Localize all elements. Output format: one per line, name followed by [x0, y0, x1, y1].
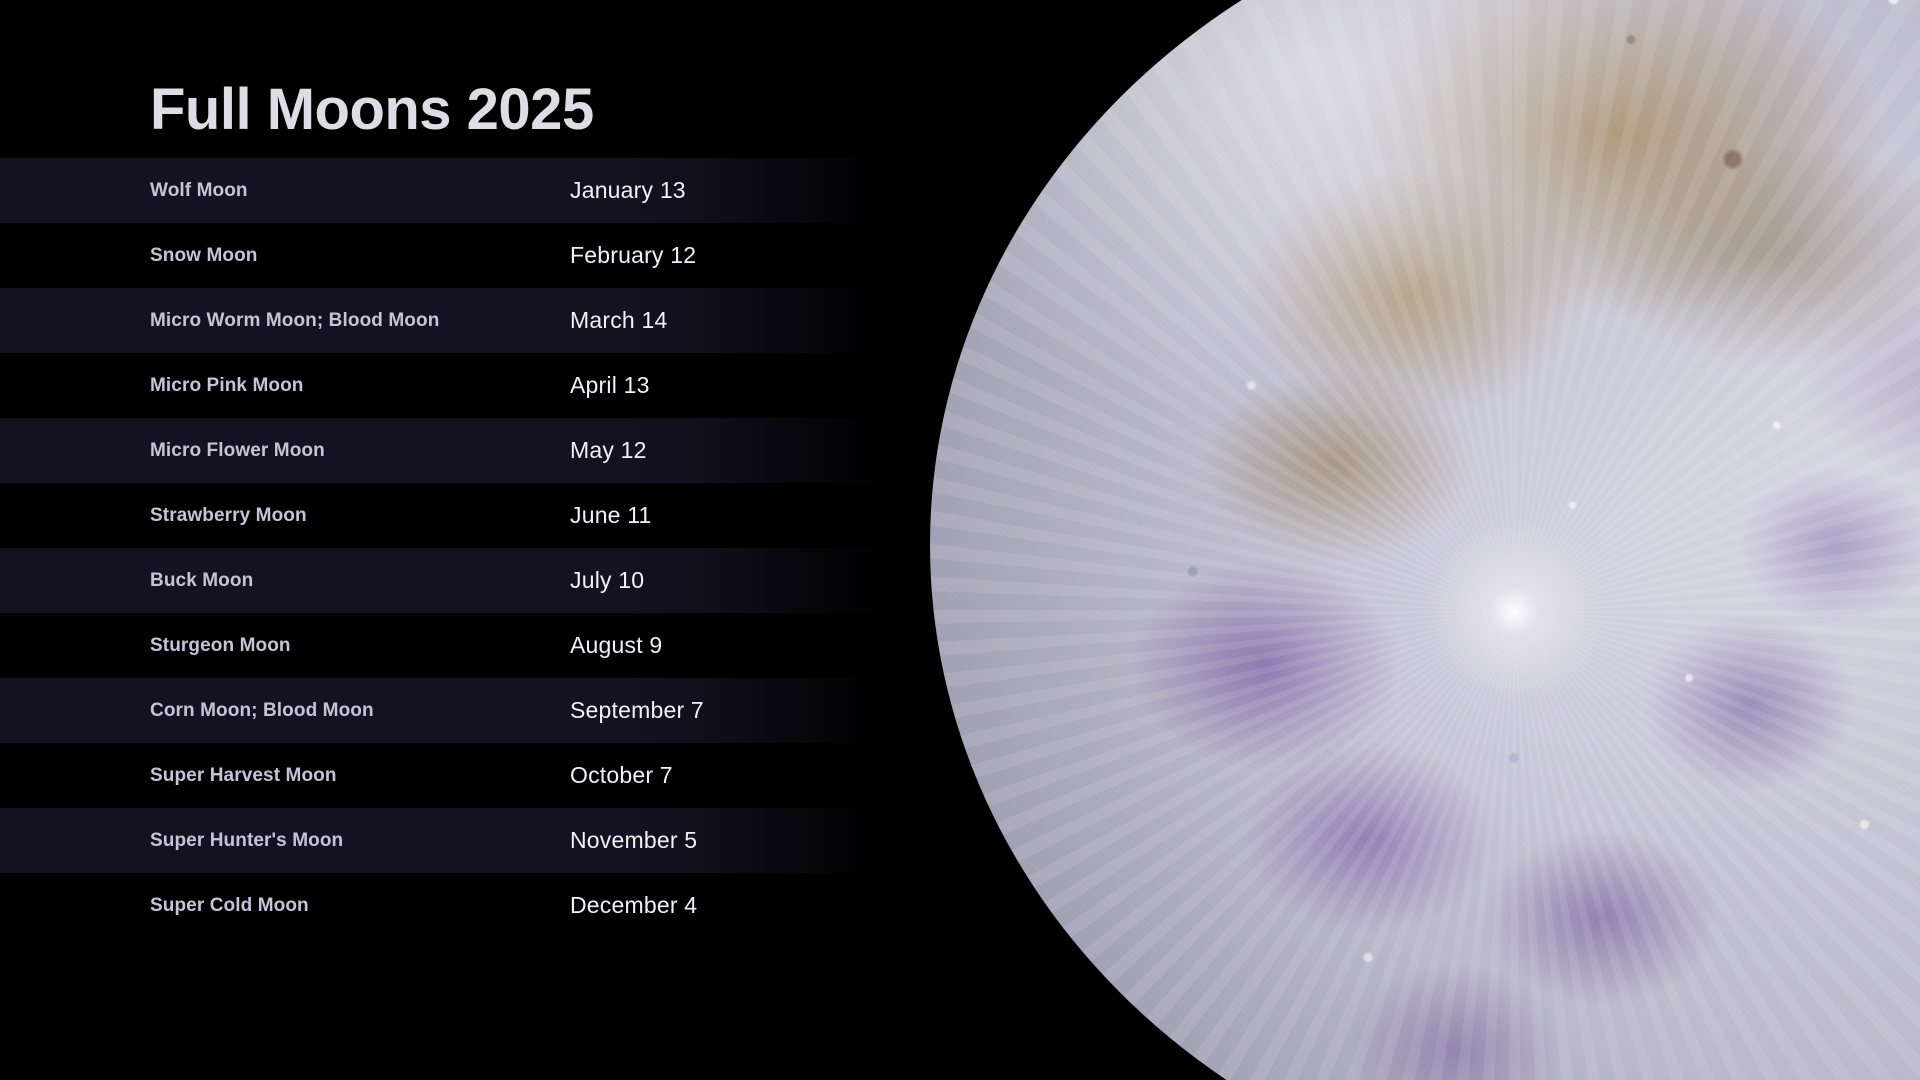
moon-name-cell: Buck Moon [150, 570, 570, 592]
moon-date-cell: May 12 [570, 437, 647, 464]
moon-name-cell: Micro Flower Moon [150, 440, 570, 462]
moon-date-cell: October 7 [570, 762, 673, 789]
table-row: Super Harvest MoonOctober 7 [0, 743, 940, 808]
table-row: Strawberry MoonJune 11 [0, 483, 940, 548]
moon-limb-shadow [930, 0, 1920, 1080]
moon-date-cell: December 4 [570, 892, 697, 919]
moon-name-cell: Snow Moon [150, 245, 570, 267]
moon-name-cell: Sturgeon Moon [150, 635, 570, 657]
moon-date-cell: February 12 [570, 242, 696, 269]
table-row: Sturgeon MoonAugust 9 [0, 613, 940, 678]
page-title: Full Moons 2025 [150, 76, 594, 143]
moon-name-cell: Super Cold Moon [150, 895, 570, 917]
moon-name-cell: Super Harvest Moon [150, 765, 570, 787]
table-row: Buck MoonJuly 10 [0, 548, 940, 613]
content-panel: Full Moons 2025 Wolf MoonJanuary 13Snow … [0, 0, 940, 1080]
table-row: Wolf MoonJanuary 13 [0, 158, 940, 223]
table-row: Micro Flower MoonMay 12 [0, 418, 940, 483]
moon-date-cell: August 9 [570, 632, 662, 659]
table-row: Micro Worm Moon; Blood MoonMarch 14 [0, 288, 940, 353]
table-row: Micro Pink MoonApril 13 [0, 353, 940, 418]
moon-surface-texture-icon [930, 0, 1920, 1080]
table-row: Snow MoonFebruary 12 [0, 223, 940, 288]
moon-date-cell: July 10 [570, 567, 644, 594]
moon-name-cell: Wolf Moon [150, 180, 570, 202]
moon-date-cell: January 13 [570, 177, 686, 204]
moon-name-cell: Strawberry Moon [150, 505, 570, 527]
moon-name-cell: Micro Pink Moon [150, 375, 570, 397]
moon-date-cell: November 5 [570, 827, 697, 854]
moon-date-cell: April 13 [570, 372, 650, 399]
poster-canvas: Full Moons 2025 Wolf MoonJanuary 13Snow … [0, 0, 1920, 1080]
table-row: Super Hunter's MoonNovember 5 [0, 808, 940, 873]
moon-name-cell: Super Hunter's Moon [150, 830, 570, 852]
moon-name-cell: Micro Worm Moon; Blood Moon [150, 310, 570, 332]
full-moons-table: Wolf MoonJanuary 13Snow MoonFebruary 12M… [0, 158, 940, 938]
moon-grain-overlay [930, 0, 1920, 1080]
moon-date-cell: June 11 [570, 502, 652, 529]
moon-disc [930, 0, 1920, 1080]
moon-date-cell: March 14 [570, 307, 667, 334]
moon-photo [930, 0, 1920, 1080]
table-row: Corn Moon; Blood MoonSeptember 7 [0, 678, 940, 743]
table-row: Super Cold MoonDecember 4 [0, 873, 940, 938]
moon-date-cell: September 7 [570, 697, 704, 724]
moon-name-cell: Corn Moon; Blood Moon [150, 700, 570, 722]
